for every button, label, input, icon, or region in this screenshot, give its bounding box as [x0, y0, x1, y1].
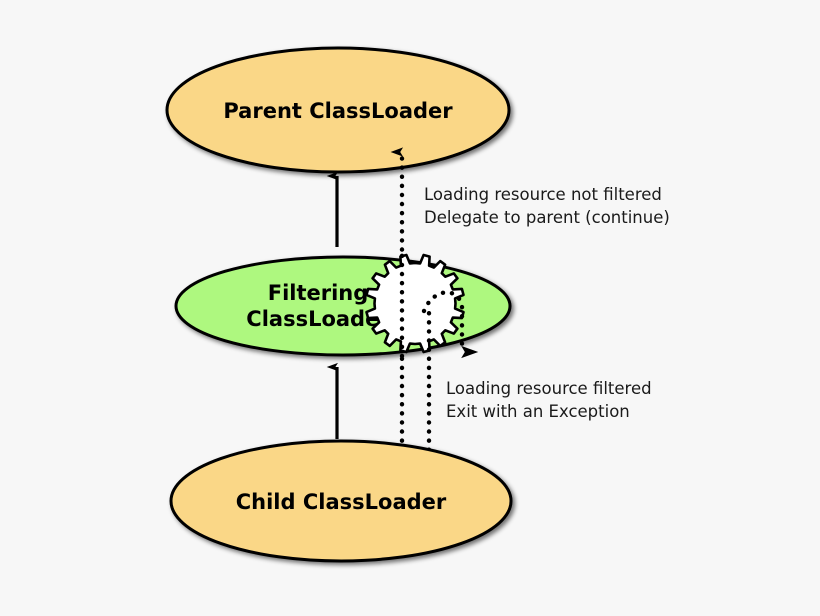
parent-classloader-label: Parent ClassLoader — [223, 99, 453, 123]
node-parent-classloader[interactable]: Parent ClassLoader — [167, 48, 509, 172]
node-child-classloader[interactable]: Child ClassLoader — [171, 441, 511, 561]
annotation-delegate-to-parent: Loading resource not filtered Delegate t… — [424, 185, 670, 227]
annotation-delegate-line2: Delegate to parent (continue) — [424, 208, 670, 227]
annotation-exit-with-exception: Loading resource filtered Exit with an E… — [446, 379, 652, 421]
diagram-canvas: Parent ClassLoader Loading resource not … — [0, 0, 820, 616]
annotation-exception-line2: Exit with an Exception — [446, 402, 630, 421]
node-filtering-classloader[interactable]: Filtering ClassLoader — [176, 257, 510, 355]
child-classloader-label: Child ClassLoader — [236, 490, 447, 514]
classloader-delegation-diagram: Parent ClassLoader Loading resource not … — [0, 0, 820, 616]
annotation-exception-line1: Loading resource filtered — [446, 379, 652, 398]
filtering-classloader-ellipse — [176, 257, 510, 355]
filtering-classloader-label-line1: Filtering — [268, 281, 369, 305]
annotation-delegate-line1: Loading resource not filtered — [424, 185, 662, 204]
